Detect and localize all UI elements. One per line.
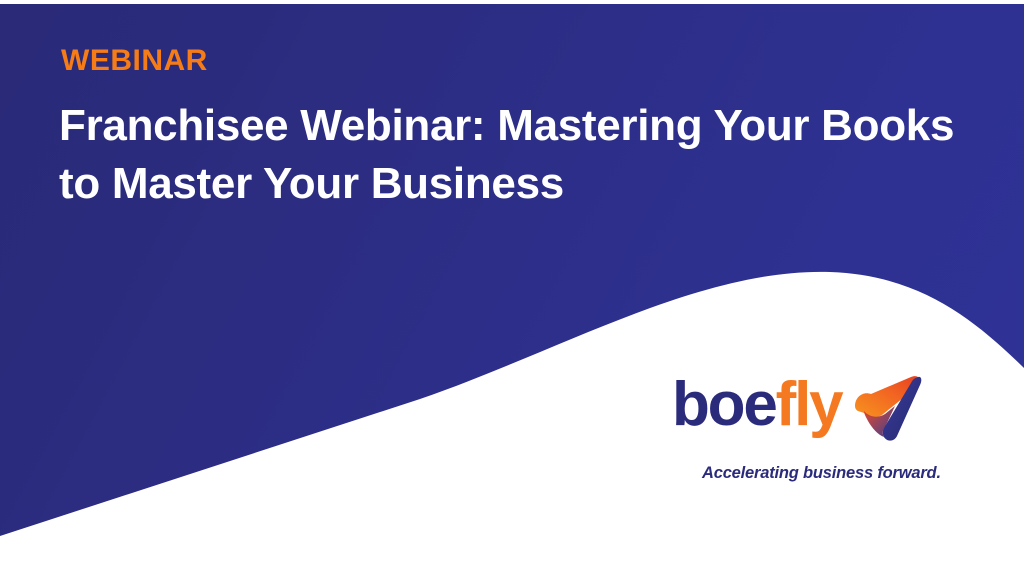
boefly-arrow-icon bbox=[854, 371, 922, 443]
wordmark-boe: boe bbox=[672, 370, 776, 439]
boefly-logo-lockup: boefly bbox=[672, 372, 924, 492]
webinar-title-slide: WEBINAR Franchisee Webinar: Mastering Yo… bbox=[0, 0, 1024, 576]
boefly-wordmark: boefly bbox=[672, 374, 841, 436]
eyebrow-label: WEBINAR bbox=[61, 46, 208, 76]
logo-tagline: Accelerating business forward. bbox=[702, 464, 941, 483]
top-edge-rule bbox=[0, 0, 1024, 4]
logo-mark-row: boefly bbox=[672, 372, 924, 444]
wordmark-fly: fly bbox=[776, 370, 842, 439]
page-title: Franchisee Webinar: Mastering Your Books… bbox=[59, 97, 969, 213]
